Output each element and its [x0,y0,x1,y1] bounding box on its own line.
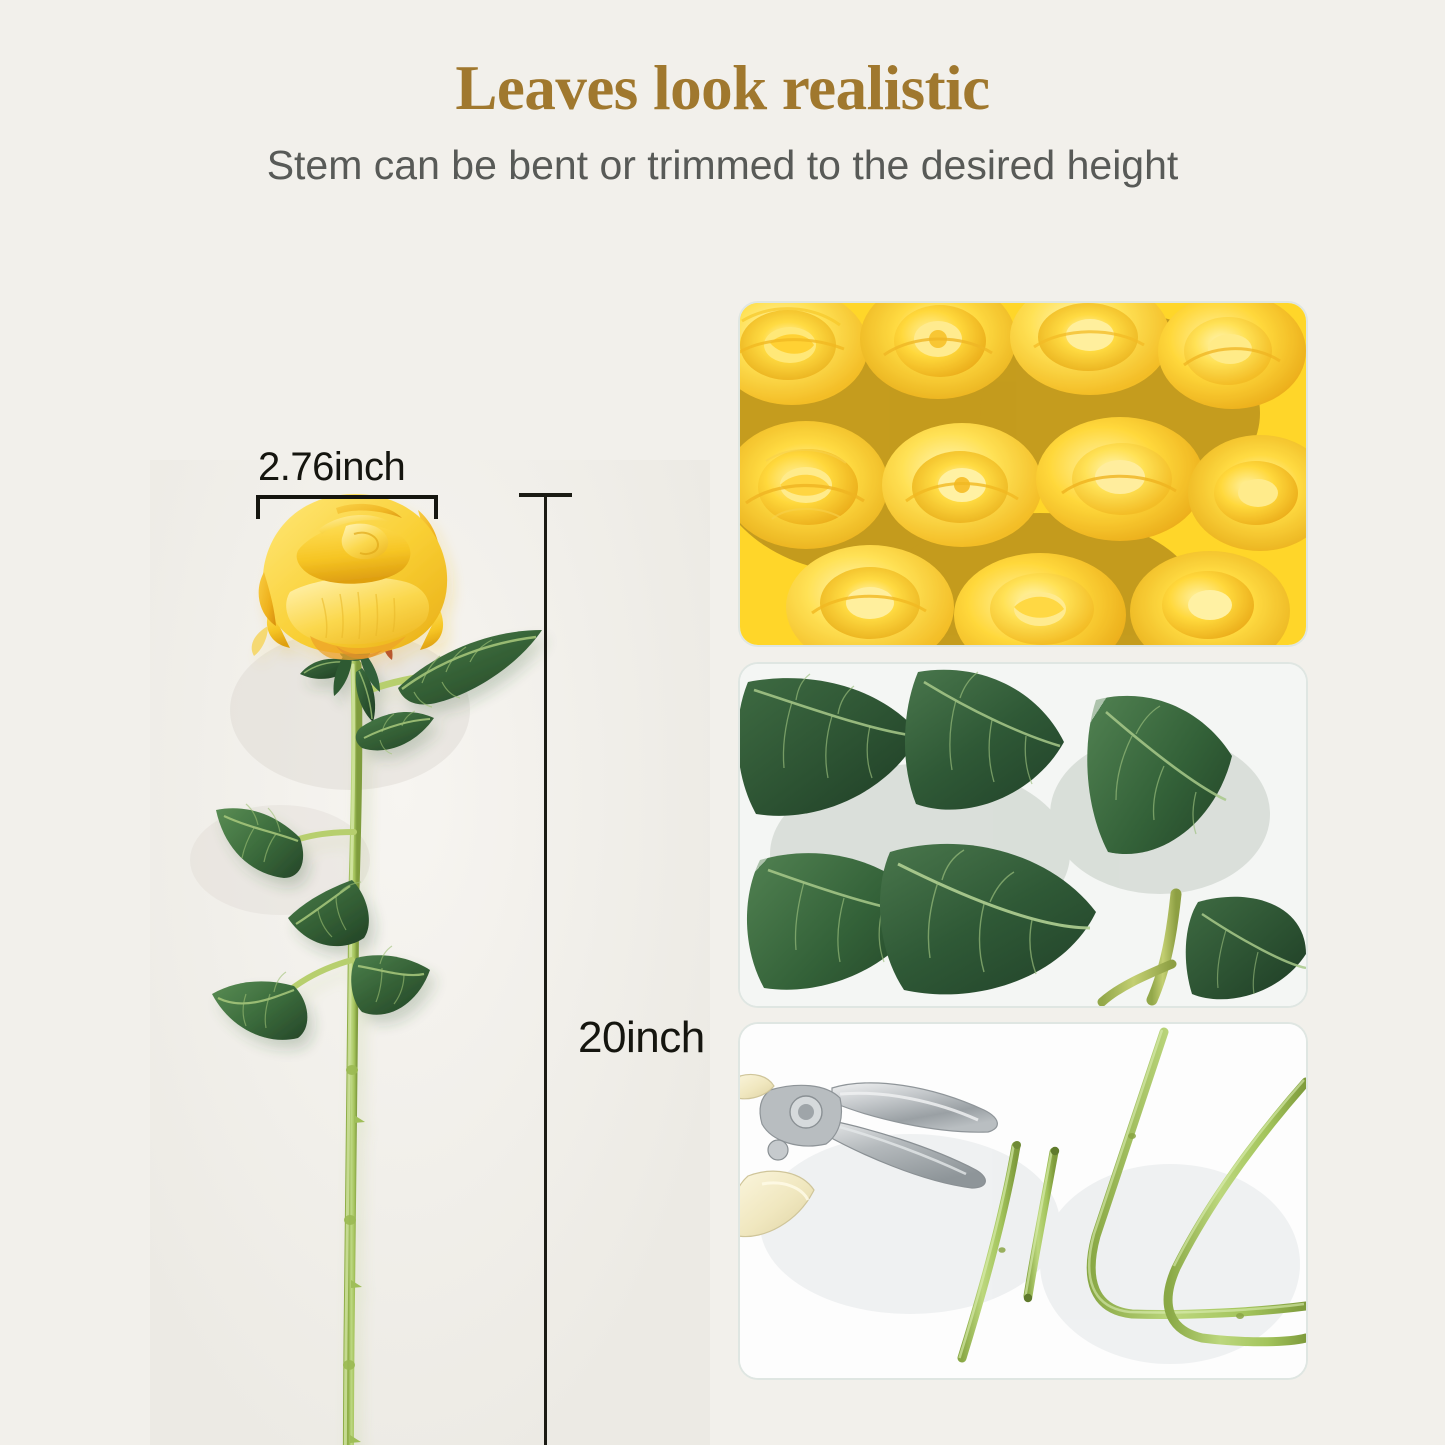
yellow-roses-photo [740,303,1306,645]
panel-scissors-stems [740,1024,1306,1378]
page-subtitle: Stem can be bent or trimmed to the desir… [0,142,1445,189]
width-dimension-bar [256,495,438,499]
rose-stem-image [150,460,710,1445]
height-dimension-line [544,493,547,1445]
page-title: Leaves look realistic [0,52,1445,125]
height-dimension-label: 20inch [578,1013,705,1063]
product-infographic: Leaves look realistic Stem can be bent o… [0,0,1445,1445]
height-dimension-cap-top [519,493,572,497]
width-dimension-label: 2.76inch [258,445,405,490]
panel-green-leaves [740,664,1306,1006]
panel-yellow-roses [740,303,1306,645]
green-leaves-photo [740,664,1306,1006]
product-photo-area: 2.76inch 20inch [0,210,720,1445]
scissors-stems-photo [740,1024,1306,1378]
